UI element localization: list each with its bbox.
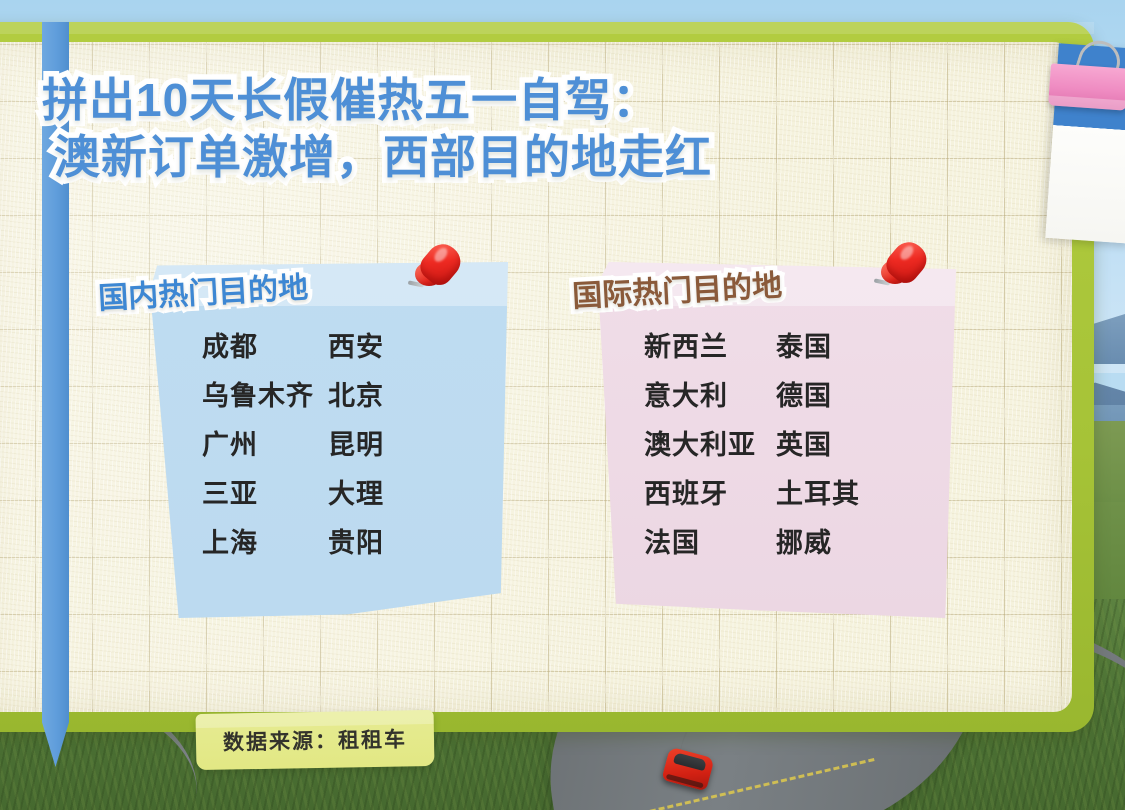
destination-name: 法国	[598, 530, 776, 557]
destination-name: 挪威	[776, 530, 832, 557]
destination-name: 上海	[150, 530, 328, 557]
destination-name: 大理	[328, 481, 384, 508]
destination-name: 西安	[328, 334, 384, 361]
list-item: 广州 昆明	[150, 432, 508, 459]
destination-name: 新西兰	[598, 334, 776, 361]
destination-name: 英国	[776, 432, 832, 459]
destination-name: 成都	[150, 334, 328, 361]
headline-line-2: 澳新订单激增，西部目的地走红	[54, 129, 802, 186]
binder-clip-icon	[1048, 49, 1125, 110]
destination-name: 三亚	[150, 481, 328, 508]
headline-line-1: 拼出10天长假催热五一自驾：	[42, 74, 659, 126]
destination-name: 贵阳	[328, 530, 384, 557]
list-item: 新西兰 泰国	[598, 334, 956, 361]
destination-name: 北京	[328, 383, 384, 410]
clip-body	[1048, 63, 1125, 110]
destination-name: 德国	[776, 383, 832, 410]
list-item: 西班牙 土耳其	[598, 481, 956, 508]
page-title: 拼出10天长假催热五一自驾： 澳新订单激增，西部目的地走红	[42, 72, 802, 186]
list-item: 三亚 大理	[150, 481, 508, 508]
destination-name: 泰国	[776, 334, 832, 361]
list-item: 意大利 德国	[598, 383, 956, 410]
destination-name: 昆明	[328, 432, 384, 459]
card-international-list: 新西兰 泰国 意大利 德国 澳大利亚 英国 西班牙 土耳其 法国 挪威	[598, 262, 956, 618]
destination-name: 西班牙	[598, 481, 776, 508]
destination-name: 意大利	[598, 383, 776, 410]
list-item: 澳大利亚 英国	[598, 432, 956, 459]
destination-name: 土耳其	[776, 481, 860, 508]
card-domestic-list: 成都 西安 乌鲁木齐 北京 广州 昆明 三亚 大理 上海 贵阳	[150, 262, 508, 618]
list-item: 法国 挪威	[598, 530, 956, 557]
pushpin-icon	[878, 238, 940, 300]
source-note: 数据来源：租租车	[196, 710, 435, 770]
card-domestic-destinations: 成都 西安 乌鲁木齐 北京 广州 昆明 三亚 大理 上海 贵阳	[150, 262, 508, 618]
destination-name: 广州	[150, 432, 328, 459]
source-text: 数据来源：租租车	[223, 723, 407, 756]
list-item: 成都 西安	[150, 334, 508, 361]
list-item: 上海 贵阳	[150, 530, 508, 557]
card-international-destinations: 新西兰 泰国 意大利 德国 澳大利亚 英国 西班牙 土耳其 法国 挪威	[598, 262, 956, 618]
destination-name: 澳大利亚	[598, 432, 776, 459]
pushpin-icon	[412, 240, 474, 302]
destination-name: 乌鲁木齐	[150, 383, 328, 410]
list-item: 乌鲁木齐 北京	[150, 383, 508, 410]
